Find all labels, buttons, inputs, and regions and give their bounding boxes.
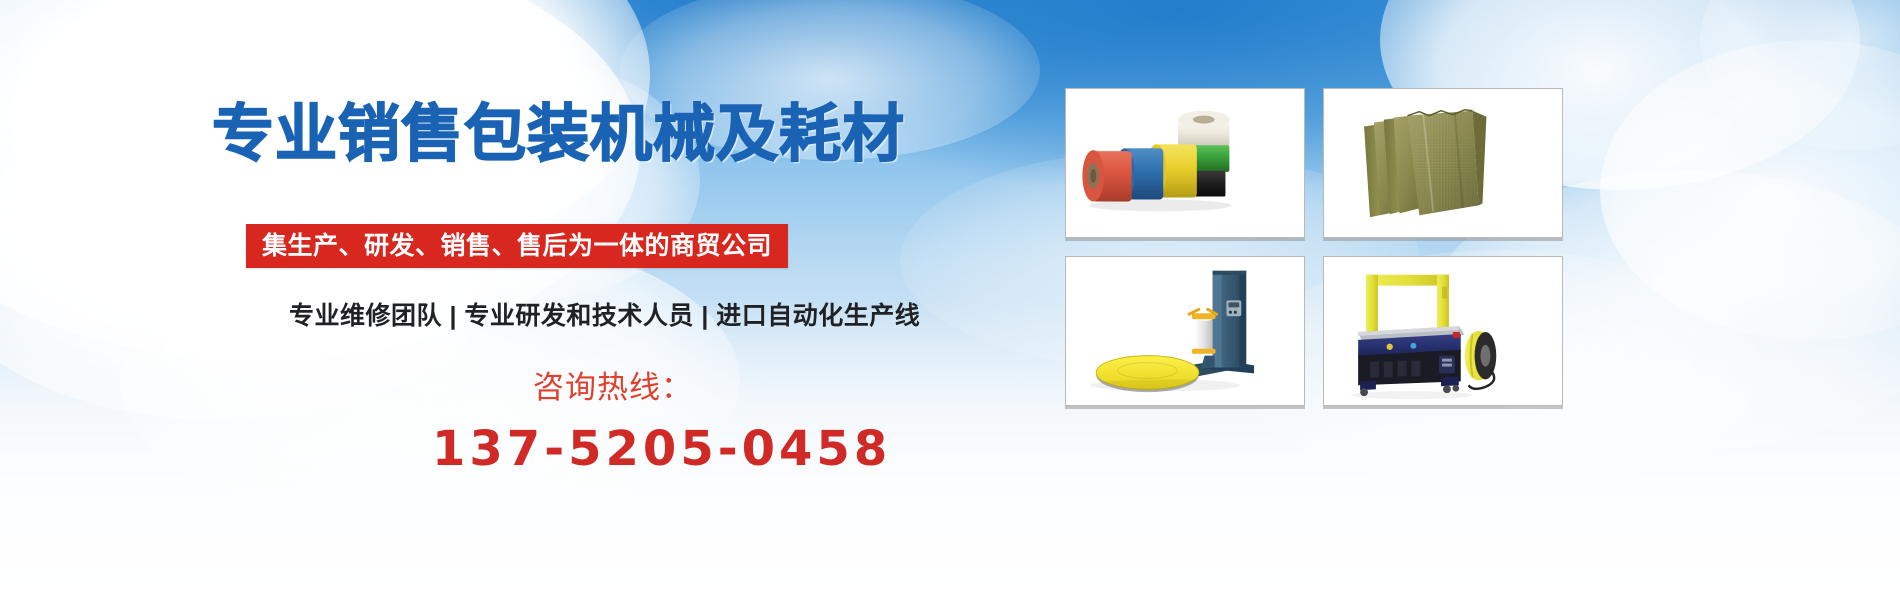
- hotline-number[interactable]: 137-5205-0458: [432, 421, 891, 477]
- packing-straps-icon: [1066, 89, 1304, 237]
- gallery-item-woven-bags[interactable]: [1323, 88, 1563, 238]
- cloud-shape: [1700, 0, 1900, 150]
- product-gallery: [1065, 88, 1653, 408]
- strapping-machine-icon: [1324, 257, 1562, 405]
- pallet-stretch-wrapper-icon: [1066, 257, 1304, 405]
- gallery-item-packing-straps[interactable]: [1065, 88, 1305, 238]
- services-list: 专业维修团队 | 专业研发和技术人员 | 进口自动化生产线: [289, 296, 920, 332]
- tagline-ribbon: 集生产、研发、销售、售后为一体的商贸公司: [246, 224, 788, 268]
- banner-headline: 专业销售包装机械及耗材: [212, 104, 905, 166]
- hotline-label: 咨询热线：: [533, 362, 693, 407]
- tagline-text: 集生产、研发、销售、售后为一体的商贸公司: [262, 234, 772, 259]
- promo-banner: 专业销售包装机械及耗材 集生产、研发、销售、售后为一体的商贸公司 专业维修团队 …: [0, 0, 1900, 600]
- woven-bags-icon: [1324, 89, 1562, 237]
- banner-copy: 专业销售包装机械及耗材 集生产、研发、销售、售后为一体的商贸公司 专业维修团队 …: [0, 0, 900, 600]
- gallery-item-pallet-stretch-wrapper[interactable]: [1065, 256, 1305, 406]
- gallery-item-strapping-machine[interactable]: [1323, 256, 1563, 406]
